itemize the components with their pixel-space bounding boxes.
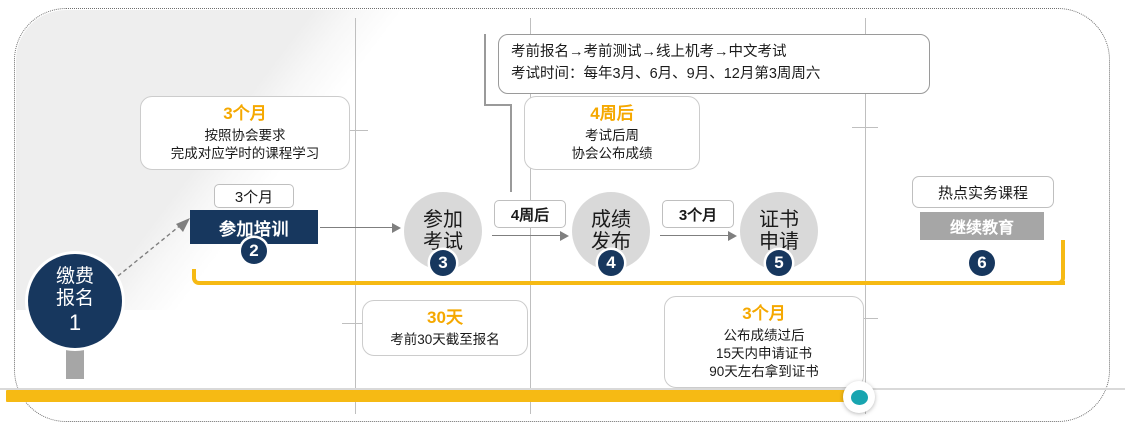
callout-result-line-1: 考试后周 — [585, 128, 639, 143]
scrollbar-knob-dot — [851, 390, 868, 405]
step-4-label-line-1: 成绩 — [591, 209, 631, 231]
arrow-step3-to-step4-line — [492, 235, 562, 236]
step-6-node[interactable]: 继续教育 — [920, 212, 1044, 240]
step-3-number: 3 — [438, 253, 447, 273]
step-6-number: 6 — [977, 253, 986, 273]
step-5-number-badge: 5 — [766, 250, 792, 276]
step-5-number: 5 — [774, 253, 783, 273]
slide-canvas: 考前报名→考前测试→线上机考→中文考试 考试时间：每年3月、6月、9月、12月第… — [0, 0, 1125, 434]
exam-info-box: 考前报名→考前测试→线上机考→中文考试 考试时间：每年3月、6月、9月、12月第… — [498, 34, 930, 94]
callout-registration-highlight: 30天 — [373, 307, 517, 329]
callout-certificate-highlight: 3个月 — [675, 303, 853, 325]
step-6-number-badge: 6 — [969, 250, 995, 276]
step-4-number: 4 — [606, 253, 615, 273]
callout-registration-line-1: 考前30天截至报名 — [390, 332, 500, 347]
callout-training-line-2: 完成对应学时的课程学习 — [171, 146, 320, 161]
step-2-duration-pill: 3个月 — [214, 184, 294, 208]
connector-elbow-bridge — [484, 104, 512, 106]
step-5-label-line-1: 证书 — [759, 209, 799, 231]
step-3-number-badge: 3 — [430, 250, 456, 276]
step-1-node[interactable]: 缴费 报名 1 — [28, 254, 122, 348]
arrow-label-4weeks: 4周后 — [494, 200, 566, 228]
connector-elbow-vertical-lower — [510, 104, 512, 192]
step-3-label-line-1: 参加 — [423, 209, 463, 231]
callout-training: 3个月 按照协会要求 完成对应学时的课程学习 — [140, 96, 350, 170]
arrow-step3-to-step4-head — [560, 231, 569, 241]
path-horizontal — [207, 281, 1065, 285]
arrow-step2-to-step3-line — [320, 227, 394, 228]
callout-result-highlight: 4周后 — [535, 103, 689, 125]
guide-rail-left — [355, 18, 356, 414]
path-vertical-right — [1061, 240, 1065, 272]
arrow-label-3months: 3个月 — [662, 200, 734, 228]
step-6-label: 继续教育 — [950, 214, 1014, 238]
step-2-label: 参加培训 — [219, 215, 289, 240]
arrow-step4-to-step5-line — [660, 235, 730, 236]
step-2-number-badge: 2 — [241, 238, 267, 264]
exam-info-line-2: 考试时间：每年3月、6月、9月、12月第3周周六 — [511, 64, 917, 86]
guide-tick — [852, 127, 878, 128]
arrow-step1-to-step2 — [112, 214, 198, 284]
scrollbar-fill[interactable] — [6, 390, 861, 402]
callout-result: 4周后 考试后周 协会公布成绩 — [524, 96, 700, 170]
callout-result-line-2: 协会公布成绩 — [572, 146, 653, 161]
callout-registration-deadline: 30天 考前30天截至报名 — [362, 300, 528, 356]
arrow-step4-to-step5-head — [728, 231, 737, 241]
callout-training-line-1: 按照协会要求 — [205, 128, 286, 143]
step-4-number-badge: 4 — [598, 250, 624, 276]
callout-certificate-line-2: 15天内申请证书 — [716, 346, 812, 361]
step-1-label-line-2: 报名 — [56, 288, 94, 309]
callout-certificate-line-3: 90天左右拿到证书 — [709, 364, 819, 379]
step-2-number: 2 — [249, 241, 258, 261]
connector-elbow-vertical-upper — [484, 34, 486, 80]
connector-elbow-segment — [484, 80, 486, 106]
callout-certificate: 3个月 公布成绩过后 15天内申请证书 90天左右拿到证书 — [664, 296, 864, 388]
callout-certificate-line-1: 公布成绩过后 — [724, 328, 805, 343]
arrow-step2-to-step3-head — [392, 223, 401, 233]
scrollbar-knob[interactable] — [843, 381, 875, 413]
exam-info-line-1: 考前报名→考前测试→线上机考→中文考试 — [511, 42, 917, 64]
step-1-number: 1 — [69, 311, 81, 336]
callout-training-highlight: 3个月 — [151, 103, 339, 125]
step-6-course-pill: 热点实务课程 — [912, 176, 1054, 208]
step-1-label-line-1: 缴费 — [56, 266, 94, 287]
